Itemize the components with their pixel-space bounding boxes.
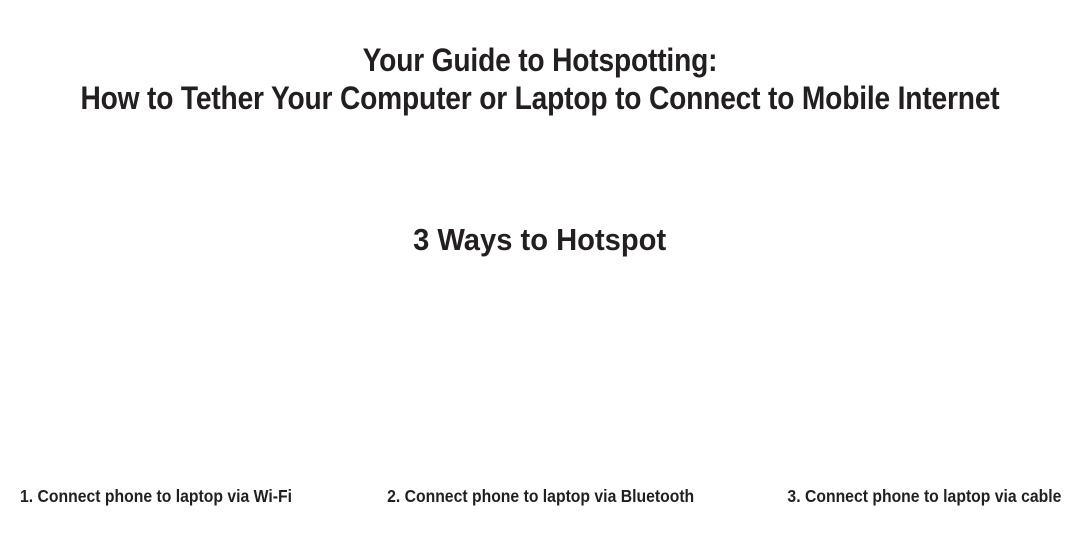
caption-label-bluetooth: 2. Connect phone to laptop via Bluetooth (387, 486, 694, 508)
illustration-slot-wifi (0, 286, 360, 476)
caption-cell-wifi: 1. Connect phone to laptop via Wi-Fi (0, 486, 367, 508)
caption-cell-cable: 3. Connect phone to laptop via cable (714, 486, 1080, 508)
page-title: Your Guide to Hotspotting: How to Tether… (0, 44, 1080, 114)
section-heading-label: 3 Ways to Hotspot (413, 224, 666, 257)
illustration-slot-cable (720, 286, 1080, 476)
page-title-line-2: How to Tether Your Computer or Laptop to… (65, 82, 1015, 114)
caption-label-wifi: 1. Connect phone to laptop via Wi-Fi (20, 486, 292, 508)
section-heading: 3 Ways to Hotspot (0, 224, 1080, 257)
caption-cell-bluetooth: 2. Connect phone to laptop via Bluetooth (367, 486, 714, 508)
caption-row: 1. Connect phone to laptop via Wi-Fi 2. … (0, 486, 1080, 514)
page-title-line-1: Your Guide to Hotspotting: (65, 44, 1015, 76)
infographic-page: Your Guide to Hotspotting: How to Tether… (0, 0, 1080, 552)
illustration-row (0, 286, 1080, 476)
caption-label-cable: 3. Connect phone to laptop via cable (787, 486, 1061, 508)
illustration-slot-bluetooth (360, 286, 720, 476)
